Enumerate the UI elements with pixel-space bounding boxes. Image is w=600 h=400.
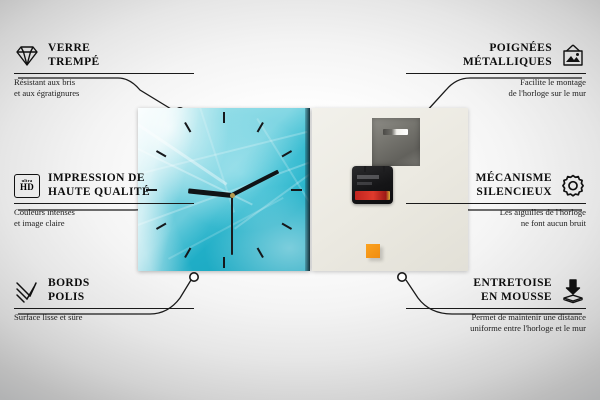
feature-header: POIGNÉES MÉTALLIQUES (406, 42, 586, 69)
clock-tick (291, 189, 302, 191)
clock-tick (156, 150, 167, 157)
foam-spacer (366, 244, 380, 258)
clock-hour-hand (188, 188, 232, 198)
feature-title: MÉCANISME SILENCIEUX (476, 172, 552, 199)
clock-tick (184, 121, 191, 132)
picture-hanger-icon (560, 43, 586, 69)
feature-header: VERRE TREMPÉ (14, 42, 194, 69)
hanger-keyhole-slot (383, 129, 408, 135)
feature-divider (14, 203, 194, 204)
feature-description: Résistant aux bris et aux égratignures (14, 77, 194, 99)
clock-tick (282, 222, 293, 229)
ultra-hd-icon: ultra HD (14, 173, 40, 199)
clock-tick (282, 150, 293, 157)
metal-hanger-plate (372, 118, 420, 166)
feature-bords-polis: BORDS POLIS Surface lisse et sûre (14, 277, 194, 323)
feature-verre-trempe: VERRE TREMPÉ Résistant aux bris et aux é… (14, 42, 194, 99)
feature-title: IMPRESSION DE HAUTE QUALITÉ (48, 172, 150, 199)
feature-poignees-metalliques: POIGNÉES MÉTALLIQUES Facilite le montage… (406, 42, 586, 99)
quartz-mechanism (352, 166, 393, 204)
feature-description: Les aiguilles de l'horloge ne font aucun… (406, 207, 586, 229)
feature-header: BORDS POLIS (14, 277, 194, 304)
diamond-icon (14, 43, 40, 69)
feature-description: Couleurs intenses et image claire (14, 207, 194, 229)
gear-icon (560, 173, 586, 199)
feature-title: POIGNÉES MÉTALLIQUES (463, 42, 552, 69)
feature-divider (406, 203, 586, 204)
feature-title: VERRE TREMPÉ (48, 42, 100, 69)
feature-description: Facilite le montage de l'horloge sur le … (406, 77, 586, 99)
product-infographic: VERRE TREMPÉ Résistant aux bris et aux é… (0, 0, 600, 400)
mechanism-label (357, 182, 372, 185)
foam-spacer-icon (560, 278, 586, 304)
feature-description: Surface lisse et sûre (14, 312, 194, 323)
mechanism-hook (364, 166, 385, 172)
clock-second-hand (231, 195, 233, 255)
feature-entretoise-en-mousse: ENTRETOISE EN MOUSSE Permet de maintenir… (406, 277, 586, 334)
feature-header: ultra HD IMPRESSION DE HAUTE QUALITÉ (14, 172, 194, 199)
feature-title: BORDS POLIS (48, 277, 90, 304)
feature-header: ENTRETOISE EN MOUSSE (406, 277, 586, 304)
clock-minute-hand (231, 170, 279, 197)
feature-divider (406, 308, 586, 309)
polished-edges-icon (14, 278, 40, 304)
clock-tick (223, 257, 225, 268)
feature-divider (14, 308, 194, 309)
battery (355, 191, 390, 200)
ultra-hd-icon-main-text: HD (20, 183, 34, 192)
clock-tick (223, 112, 225, 123)
mechanism-label (357, 175, 379, 179)
clock-center-cap (230, 193, 235, 198)
feature-divider (14, 73, 194, 74)
connector-dot-entretoise (398, 273, 406, 281)
clock-tick (184, 247, 191, 258)
feature-mecanisme-silencieux: MÉCANISME SILENCIEUX Les aiguilles de l'… (406, 172, 586, 229)
feature-header: MÉCANISME SILENCIEUX (406, 172, 586, 199)
clock-tick (257, 247, 264, 258)
clock-tick (257, 121, 264, 132)
feature-description: Permet de maintenir une distance uniform… (406, 312, 586, 334)
feature-impression-haute-qualite: ultra HD IMPRESSION DE HAUTE QUALITÉ Cou… (14, 172, 194, 229)
feature-title: ENTRETOISE EN MOUSSE (473, 277, 552, 304)
feature-divider (406, 73, 586, 74)
